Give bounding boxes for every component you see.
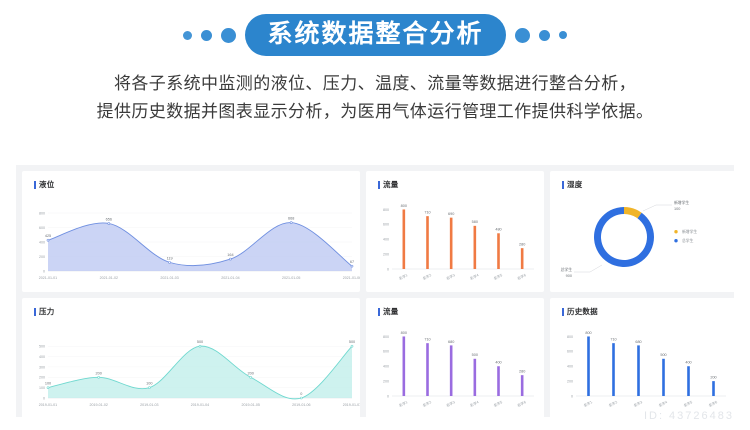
watermark: ID: 43726483 [644,410,734,422]
bar [426,216,429,269]
card-pressure[interactable]: 压力 01002003004005001002019-01-012002019-… [22,298,360,419]
chart-humidity: 新增学生100总学生900新增学生总学生 [550,171,736,292]
y-tick-label: 200 [39,255,45,259]
y-tick-label: 600 [383,223,389,227]
x-tick-label: 2019-01-05 [241,403,259,407]
bar [662,359,665,396]
bar-value-label: 690 [448,212,454,216]
data-point [300,397,302,399]
data-point [351,265,353,267]
x-tick-label: 名字1 [583,399,593,408]
y-tick-label: 0 [43,269,45,273]
y-tick-label: 600 [383,350,389,354]
data-point-label: 119 [167,256,173,260]
x-tick-label: 名字6 [516,399,526,408]
slice-value-1: 900 [566,274,572,278]
x-tick-label: 2019-01-06 [292,403,310,407]
x-tick-label: 名字5 [683,399,693,408]
data-point [108,222,110,224]
legend-label: 新增学生 [682,229,697,234]
y-tick-label: 800 [383,208,389,212]
y-tick-label: 100 [39,386,45,390]
data-point [169,261,171,263]
decor-dot-right-1 [515,28,530,43]
y-tick-label: 800 [383,335,389,339]
data-point-label: 500 [349,340,355,344]
bar-value-label: 400 [685,361,691,365]
chart-level: 02004006008004252021-01-016562021-01-021… [22,171,360,292]
bar [403,209,406,269]
y-tick-label: 0 [571,394,573,398]
y-tick-label: 200 [383,253,389,257]
slice-value-0: 100 [674,207,680,211]
bar [521,375,524,396]
y-tick-label: 400 [567,365,573,369]
y-tick-label: 0 [387,394,389,398]
bar-value-label: 800 [585,331,591,335]
x-tick-label: 名字4 [469,399,479,408]
bar [521,248,524,269]
bar [687,366,690,396]
y-tick-label: 400 [383,238,389,242]
data-point-label: 425 [45,234,51,238]
page-header: 系统数据整合分析 [0,0,750,56]
card-flow-top[interactable]: 流量 0200400600800800名字1710名字2690名字3580名字4… [366,171,544,292]
y-tick-label: 200 [39,376,45,380]
y-tick-label: 0 [43,396,45,400]
data-point [199,345,201,347]
bar-value-label: 580 [472,220,478,224]
y-tick-label: 500 [39,345,45,349]
data-point [250,376,252,378]
data-point-label: 164 [227,253,233,257]
decor-dot-right-2 [539,30,550,41]
x-tick-label: 名字3 [445,272,455,281]
legend-label: 总学生 [682,238,694,243]
bar-value-label: 400 [495,361,501,365]
subtitle-line-1: 将各子系统中监测的液位、压力、温度、流量等数据进行整合分析， [0,70,750,98]
x-tick-label: 名字4 [469,272,479,281]
data-point-label: 668 [288,217,294,221]
chart-flow-top: 0200400600800800名字1710名字2690名字3580名字4480… [366,171,544,292]
x-tick-label: 2021-01-03 [160,276,178,280]
legend-marker [674,230,677,233]
bar [612,343,615,396]
decor-dot-left-2 [201,30,212,41]
bar [474,359,477,396]
x-tick-label: 名字4 [658,399,668,408]
data-point [47,239,49,241]
data-point-label: 500 [197,340,203,344]
x-tick-label: 名字5 [493,272,503,281]
data-point [351,345,353,347]
bar-value-label: 710 [610,338,616,342]
x-tick-label: 2019-01-07 [343,403,360,407]
y-tick-label: 200 [567,380,573,384]
x-tick-label: 2019-01-03 [140,403,158,407]
card-history[interactable]: 历史数据 0200400600800800名字1710名字2680名字3500名… [550,298,736,419]
bar-value-label: 710 [424,338,430,342]
area-fill [48,223,352,271]
decor-dot-left-1 [183,31,192,40]
subtitle-line-2: 提供历史数据并图表显示分析，为医用气体运行管理工作提供科学依据。 [0,98,750,126]
x-tick-label: 2019-01-02 [89,403,107,407]
data-point-label: 656 [106,217,112,221]
y-tick-label: 800 [567,335,573,339]
x-tick-label: 2021-01-05 [282,276,300,280]
bar-value-label: 280 [519,370,525,374]
bar [474,226,477,269]
card-humidity[interactable]: 湿度 新增学生100总学生900新增学生总学生 [550,171,736,292]
bar-value-label: 800 [401,204,407,208]
area-fill [48,346,352,399]
chart-flow-bot: 0200400600800800名字1710名字2680名字3500名字4400… [366,298,544,419]
bar-value-label: 500 [472,353,478,357]
x-tick-label: 2021-01-04 [221,276,239,280]
decor-dot-left-3 [221,28,236,43]
chart-history: 0200400600800800名字1710名字2680名字3500名字4400… [550,298,736,419]
bar-value-label: 280 [519,243,525,247]
page-subtitle: 将各子系统中监测的液位、压力、温度、流量等数据进行整合分析， 提供历史数据并图表… [0,70,750,125]
y-tick-label: 800 [39,211,45,215]
x-tick-label: 名字2 [608,399,618,408]
x-tick-label: 名字3 [633,399,643,408]
x-tick-label: 2019-01-01 [39,403,57,407]
data-point-label: 100 [45,382,51,386]
x-tick-label: 2021-01-01 [39,276,57,280]
x-tick-label: 名字5 [493,399,503,408]
data-point-label: 0 [300,392,302,396]
bar [637,345,640,396]
x-tick-label: 名字2 [422,272,432,281]
card-level[interactable]: 液位 02004006008004252021-01-016562021-01-… [22,171,360,292]
y-tick-label: 600 [567,350,573,354]
x-tick-label: 名字1 [398,399,408,408]
x-tick-label: 名字6 [516,272,526,281]
legend-marker [674,239,677,242]
x-tick-label: 名字1 [398,272,408,281]
x-tick-label: 2019-01-04 [191,403,209,407]
bar [712,381,715,396]
bar [426,343,429,396]
bar-value-label: 480 [495,228,501,232]
x-tick-label: 2021-01-06 [343,276,360,280]
chart-pressure: 01002003004005001002019-01-012002019-01-… [22,298,360,419]
bar-value-label: 800 [401,331,407,335]
y-tick-label: 200 [383,380,389,384]
bar-value-label: 500 [660,353,666,357]
data-point [229,258,231,260]
y-tick-label: 400 [383,365,389,369]
donut-slice [594,207,654,267]
data-point-label: 67 [350,260,354,264]
decor-dot-right-3 [559,31,567,39]
bar [403,336,406,396]
data-point-label: 200 [95,371,101,375]
bar [450,218,453,269]
leader-line [643,205,672,211]
y-tick-label: 300 [39,365,45,369]
x-tick-label: 名字6 [708,399,718,408]
bar [497,366,500,396]
bar-value-label: 710 [424,211,430,215]
bar [587,336,590,396]
data-point [98,376,100,378]
slice-label-1: 总学生 [561,267,573,272]
x-tick-label: 名字2 [422,399,432,408]
card-flow-bot[interactable]: 流量 0200400600800800名字1710名字2680名字3500名字4… [366,298,544,419]
data-point-label: 200 [247,371,253,375]
bar [450,345,453,396]
data-point [290,222,292,224]
y-tick-label: 600 [39,226,45,230]
bar-value-label: 200 [710,376,716,380]
slice-label-0: 新增学生 [674,200,689,205]
bar [497,233,500,269]
data-point [47,387,49,389]
data-point [148,387,150,389]
dashboard-grid: 液位 02004006008004252021-01-016562021-01-… [16,165,734,417]
y-tick-label: 400 [39,240,45,244]
x-tick-label: 名字3 [445,399,455,408]
y-tick-label: 400 [39,355,45,359]
bar-value-label: 680 [448,340,454,344]
y-tick-label: 0 [387,267,389,271]
leader-line [574,265,602,272]
page-title: 系统数据整合分析 [245,14,505,56]
bar-value-label: 680 [635,340,641,344]
data-point-label: 100 [146,382,152,386]
x-tick-label: 2021-01-02 [100,276,118,280]
